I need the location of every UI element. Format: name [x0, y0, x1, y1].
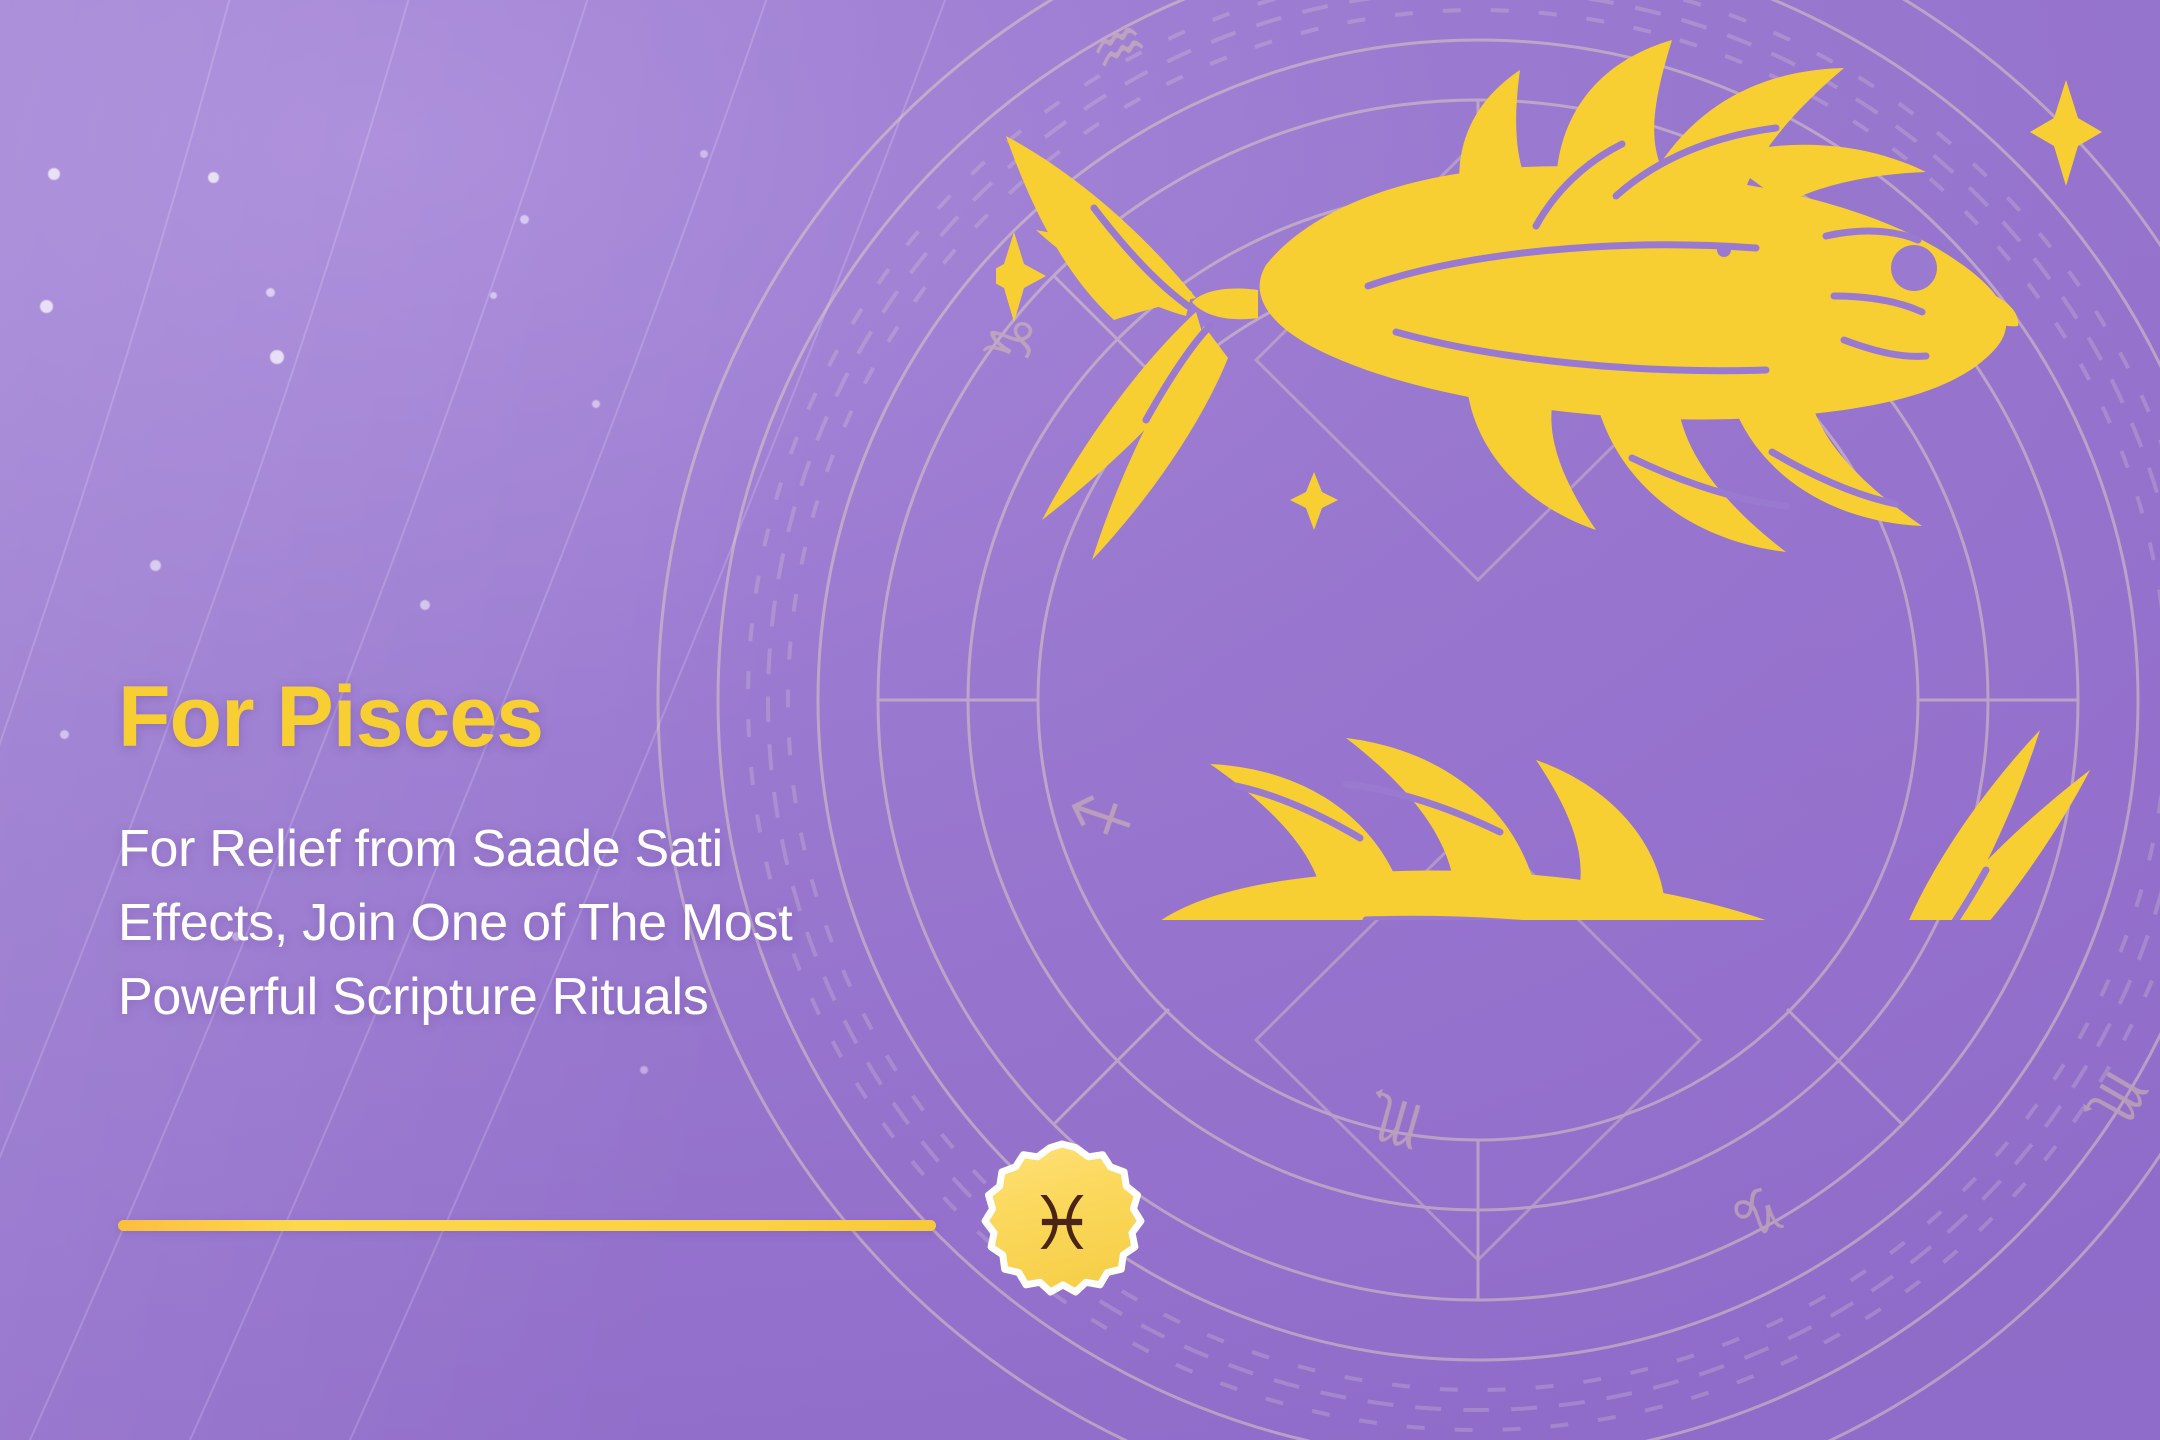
star-dot: [60, 730, 69, 739]
star-dot: [520, 215, 529, 224]
page-title: For Pisces: [118, 672, 1078, 763]
star-dot: [40, 300, 53, 313]
subheadline-line-2: Effects, Join One of The Most: [118, 887, 1058, 961]
two-pisces-fish-illustration: [996, 40, 2136, 920]
fish-bottom: [1114, 730, 2126, 920]
subheadline-line-3: Powerful Scripture Rituals: [118, 961, 1058, 1035]
subheadline: For Relief from Saade Sati Effects, Join…: [118, 813, 1058, 1034]
star-dot: [208, 172, 219, 183]
wheel-glyph-scorpio-right: ♏: [2071, 1058, 2160, 1143]
subheadline-line-1: For Relief from Saade Sati: [118, 813, 1058, 887]
fish-top-eye: [1891, 245, 1937, 291]
star-dot: [700, 150, 708, 158]
star-dot: [270, 350, 284, 364]
sparkle-icon: [996, 232, 1046, 322]
sparkle-icon: [2030, 80, 2102, 186]
star-dot: [640, 1066, 648, 1074]
star-dot: [490, 292, 497, 299]
sparkle-icon: [1290, 472, 1338, 530]
gold-divider: [118, 1220, 936, 1231]
star-dot: [150, 560, 161, 571]
star-dot: [266, 288, 275, 297]
pisces-sign-badge: ♓: [972, 1136, 1152, 1316]
wheel-glyph-scorpio: ♏: [1357, 1078, 1431, 1163]
pisces-promo-banner: ♒ ♑ ♐ ♏ ♑ ♏: [0, 0, 2160, 1440]
pisces-glyph-icon: ♓: [972, 1136, 1152, 1316]
star-dot: [48, 168, 60, 180]
star-dot: [592, 400, 600, 408]
copy-block: For Pisces For Relief from Saade Sati Ef…: [118, 672, 1078, 1035]
wheel-glyph-taurus: ♑: [1721, 1169, 1793, 1253]
star-dot: [420, 600, 430, 610]
